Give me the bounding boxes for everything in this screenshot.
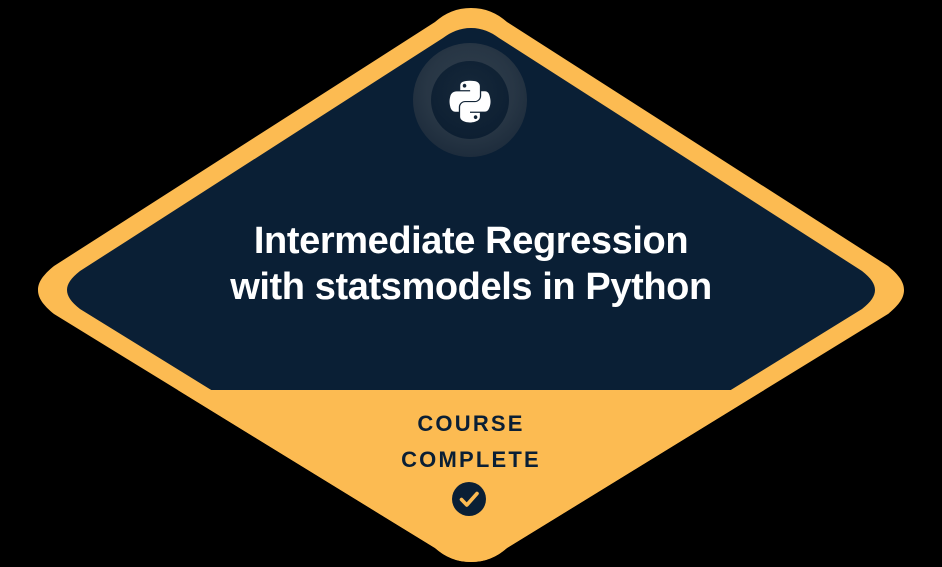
banner-divider bbox=[0, 390, 942, 567]
check-circle-background bbox=[452, 482, 486, 516]
check-circle-icon bbox=[452, 482, 486, 516]
badge-graphic bbox=[0, 0, 942, 567]
course-completion-badge: Intermediate Regression with statsmodels… bbox=[0, 0, 942, 567]
